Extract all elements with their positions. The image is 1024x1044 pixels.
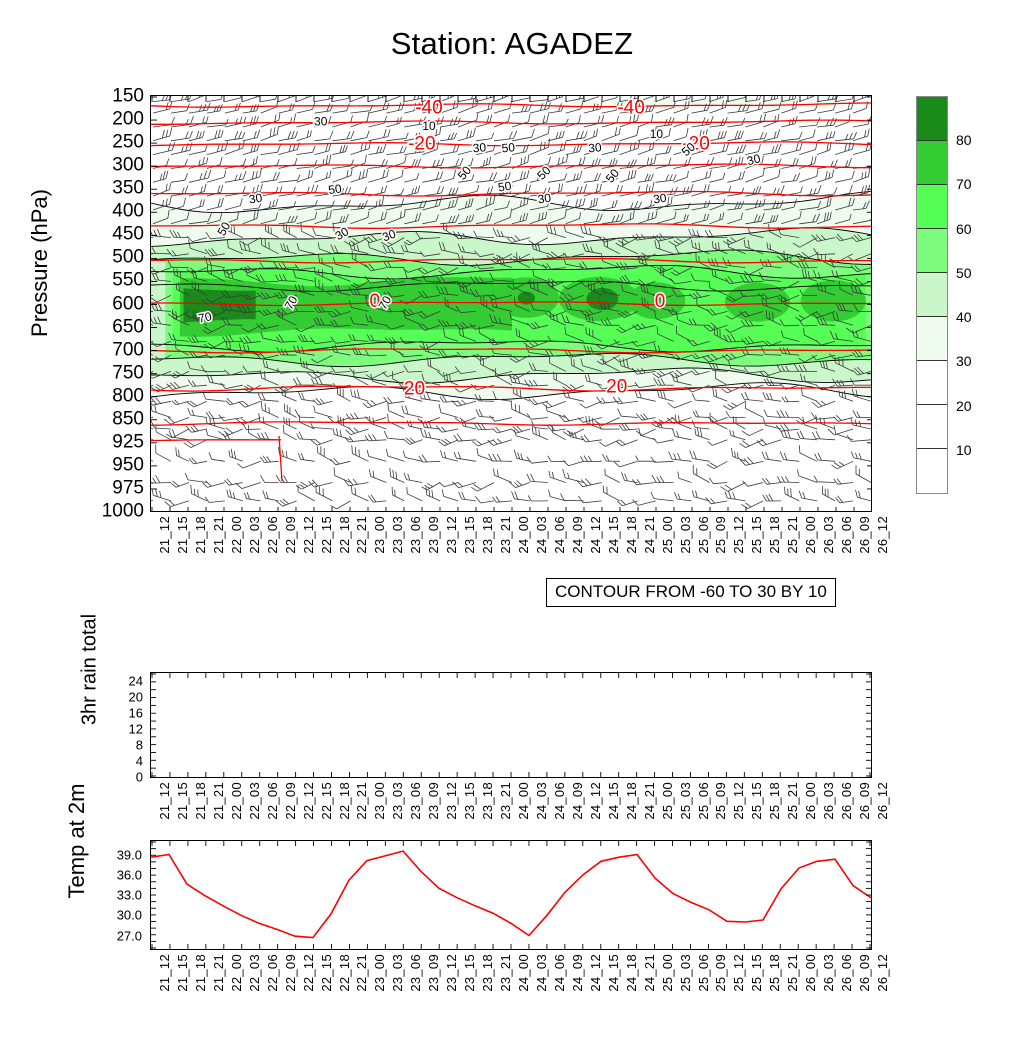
x-tick-label: 22_09 xyxy=(283,954,298,992)
rain-tick-label: 24 xyxy=(97,675,143,688)
x-tick-label: 23_12 xyxy=(444,782,459,820)
x-tick-label: 23_09 xyxy=(426,954,441,992)
x-tick-label: 24_09 xyxy=(570,954,585,992)
x-tick-label: 24_00 xyxy=(516,954,531,992)
svg-text:50: 50 xyxy=(603,166,623,185)
x-tick-label: 23_12 xyxy=(444,516,459,554)
x-tick-label: 23_18 xyxy=(480,782,495,820)
x-tick-label: 24_03 xyxy=(534,516,549,554)
x-tick-label: 22_15 xyxy=(319,954,334,992)
x-tick-label: 21_12 xyxy=(157,954,172,992)
x-tick-label: 26_03 xyxy=(821,954,836,992)
pressure-tick-label: 850 xyxy=(84,409,144,428)
x-tick-label: 24_06 xyxy=(552,954,567,992)
contour-field: -40-40-40-40-20-20-20-200000202020203030… xyxy=(151,96,872,512)
colorbar-tick-label: 60 xyxy=(956,221,972,237)
x-tick-label: 24_00 xyxy=(516,782,531,820)
x-tick-label: 25_09 xyxy=(713,954,728,992)
svg-text:20: 20 xyxy=(606,377,627,398)
pressure-tick-label: 350 xyxy=(84,179,144,198)
colorbar-band xyxy=(917,405,947,449)
svg-text:10: 10 xyxy=(650,127,664,141)
x-tick-label: 26_12 xyxy=(875,516,890,554)
colorbar-band xyxy=(917,229,947,273)
x-tick-label: 22_03 xyxy=(247,954,262,992)
svg-text:30: 30 xyxy=(472,140,487,155)
x-tick-label: 25_03 xyxy=(678,954,693,992)
x-tick-label: 21_21 xyxy=(211,516,226,554)
contour-legend-box: CONTOUR FROM -60 TO 30 BY 10 xyxy=(546,578,836,607)
x-tick-label: 26_09 xyxy=(857,782,872,820)
pressure-tick-label: 550 xyxy=(84,271,144,290)
x-tick-label: 26_12 xyxy=(875,782,890,820)
page-title: Station: AGADEZ xyxy=(0,26,1024,62)
x-tick-label: 26_06 xyxy=(839,782,854,820)
svg-text:30: 30 xyxy=(537,191,552,207)
x-tick-label: 25_06 xyxy=(696,516,711,554)
x-tick-label: 23_18 xyxy=(480,954,495,992)
x-tick-label: 25_03 xyxy=(678,516,693,554)
x-tick-label: 22_21 xyxy=(354,782,369,820)
x-tick-label: 22_12 xyxy=(301,782,316,820)
x-tick-label: 23_21 xyxy=(498,954,513,992)
x-tick-label: 24_21 xyxy=(642,954,657,992)
svg-text:-40: -40 xyxy=(617,98,644,119)
x-tick-label: 23_00 xyxy=(372,782,387,820)
pressure-tick-label: 300 xyxy=(84,156,144,175)
svg-text:-20: -20 xyxy=(408,134,435,155)
x-tick-label: 25_21 xyxy=(785,516,800,554)
x-tick-label: 25_06 xyxy=(696,782,711,820)
x-tick-label: 22_12 xyxy=(301,516,316,554)
temp-tick-label: 36.0 xyxy=(82,868,142,881)
x-tick-label: 23_00 xyxy=(372,954,387,992)
x-tick-label: 25_18 xyxy=(767,782,782,820)
svg-text:30: 30 xyxy=(248,191,263,207)
x-tick-label: 22_06 xyxy=(265,954,280,992)
colorbar-band xyxy=(917,273,947,317)
x-tick-label: 25_21 xyxy=(785,954,800,992)
svg-text:30: 30 xyxy=(745,151,762,168)
x-tick-label: 24_06 xyxy=(552,516,567,554)
x-tick-label: 22_06 xyxy=(265,782,280,820)
colorbar-band xyxy=(917,97,947,141)
x-tick-label: 22_09 xyxy=(283,782,298,820)
pressure-tick-label: 750 xyxy=(84,363,144,382)
x-tick-label: 23_09 xyxy=(426,516,441,554)
x-tick-label: 21_21 xyxy=(211,782,226,820)
colorbar-tick-label: 70 xyxy=(956,176,972,192)
x-tick-label: 22_06 xyxy=(265,516,280,554)
x-tick-label: 22_21 xyxy=(354,516,369,554)
svg-text:0: 0 xyxy=(655,291,666,312)
x-tick-label: 21_15 xyxy=(175,954,190,992)
x-tick-label: 25_15 xyxy=(749,954,764,992)
x-tick-label: 24_12 xyxy=(588,782,603,820)
rain-y-axis-ticks: 04812162024 xyxy=(95,672,143,778)
x-tick-label: 25_15 xyxy=(749,516,764,554)
svg-text:50: 50 xyxy=(327,181,342,197)
colorbar-tick-label: 20 xyxy=(956,398,972,414)
x-tick-label: 25_09 xyxy=(713,516,728,554)
x-tick-label: 26_06 xyxy=(839,954,854,992)
humidity-colorbar xyxy=(916,96,948,494)
pressure-tick-label: 200 xyxy=(84,110,144,129)
pressure-tick-label: 400 xyxy=(84,202,144,221)
x-tick-label: 23_21 xyxy=(498,516,513,554)
colorbar-band xyxy=(917,449,947,493)
temp-x-axis-labels: 21_1221_1521_1821_2122_0022_0322_0622_09… xyxy=(150,954,872,1044)
rain-tick-label: 4 xyxy=(97,755,143,768)
x-tick-label: 22_00 xyxy=(229,954,244,992)
rain-tick-label: 0 xyxy=(97,771,143,784)
x-tick-label: 25_06 xyxy=(696,954,711,992)
x-tick-label: 21_12 xyxy=(157,516,172,554)
x-tick-label: 22_15 xyxy=(319,782,334,820)
x-tick-label: 24_03 xyxy=(534,782,549,820)
x-tick-label: 24_21 xyxy=(642,782,657,820)
rain-series xyxy=(151,673,871,777)
colorbar-tick-label: 50 xyxy=(956,265,972,281)
x-tick-label: 25_12 xyxy=(731,782,746,820)
x-tick-label: 24_18 xyxy=(624,516,639,554)
x-tick-label: 23_15 xyxy=(462,954,477,992)
x-tick-label: 24_00 xyxy=(516,516,531,554)
x-tick-label: 25_12 xyxy=(731,954,746,992)
x-tick-label: 24_15 xyxy=(606,954,621,992)
x-tick-label: 21_15 xyxy=(175,516,190,554)
x-tick-label: 22_18 xyxy=(337,516,352,554)
x-tick-label: 22_12 xyxy=(301,954,316,992)
pressure-tick-label: 950 xyxy=(84,455,144,474)
x-tick-label: 25_00 xyxy=(660,516,675,554)
svg-text:20: 20 xyxy=(404,378,425,399)
x-tick-label: 25_00 xyxy=(660,954,675,992)
x-tick-label: 22_03 xyxy=(247,516,262,554)
pressure-tick-label: 150 xyxy=(84,87,144,106)
x-tick-label: 26_00 xyxy=(803,782,818,820)
x-tick-label: 22_00 xyxy=(229,516,244,554)
x-tick-label: 24_12 xyxy=(588,516,603,554)
x-tick-label: 21_12 xyxy=(157,782,172,820)
pressure-tick-label: 500 xyxy=(84,248,144,267)
pressure-tick-label: 250 xyxy=(84,133,144,152)
colorbar-band xyxy=(917,361,947,405)
colorbar-tick-label: 80 xyxy=(956,132,972,148)
x-tick-label: 25_09 xyxy=(713,782,728,820)
x-tick-label: 24_18 xyxy=(624,954,639,992)
rain-tick-label: 12 xyxy=(97,723,143,736)
svg-text:-40: -40 xyxy=(415,98,442,119)
x-tick-label: 21_18 xyxy=(193,954,208,992)
colorbar-tick-label: 30 xyxy=(956,353,972,369)
x-tick-label: 25_15 xyxy=(749,782,764,820)
svg-text:50: 50 xyxy=(501,140,516,155)
x-tick-label: 23_00 xyxy=(372,516,387,554)
x-tick-label: 26_03 xyxy=(821,782,836,820)
x-tick-label: 22_21 xyxy=(354,954,369,992)
x-tick-label: 23_03 xyxy=(390,954,405,992)
svg-text:30: 30 xyxy=(314,115,328,129)
colorbar-tick-label: 40 xyxy=(956,309,972,325)
x-tick-label: 22_03 xyxy=(247,782,262,820)
colorbar-band xyxy=(917,141,947,185)
x-tick-label: 24_15 xyxy=(606,516,621,554)
x-tick-label: 26_09 xyxy=(857,516,872,554)
x-tick-label: 23_06 xyxy=(408,516,423,554)
x-tick-label: 24_09 xyxy=(570,516,585,554)
sounding-contour-plot: -40-40-40-40-20-20-20-200000202020203030… xyxy=(150,95,872,512)
rain-tick-label: 8 xyxy=(97,739,143,752)
x-tick-label: 22_18 xyxy=(337,954,352,992)
x-tick-label: 23_09 xyxy=(426,782,441,820)
rain-total-plot xyxy=(150,672,872,778)
svg-text:50: 50 xyxy=(497,179,512,195)
x-tick-label: 24_21 xyxy=(642,516,657,554)
temp-series xyxy=(151,841,871,949)
pressure-tick-label: 800 xyxy=(84,386,144,405)
rain-tick-label: 20 xyxy=(97,691,143,704)
x-tick-label: 21_15 xyxy=(175,782,190,820)
x-tick-label: 23_03 xyxy=(390,782,405,820)
x-tick-label: 24_18 xyxy=(624,782,639,820)
pressure-tick-label: 700 xyxy=(84,340,144,359)
x-tick-label: 26_12 xyxy=(875,954,890,992)
temp-tick-label: 39.0 xyxy=(82,848,142,861)
x-tick-label: 25_00 xyxy=(660,782,675,820)
pressure-tick-label: 925 xyxy=(84,432,144,451)
x-tick-label: 21_18 xyxy=(193,516,208,554)
x-tick-label: 24_12 xyxy=(588,954,603,992)
x-tick-label: 23_15 xyxy=(462,782,477,820)
x-tick-label: 22_18 xyxy=(337,782,352,820)
x-tick-label: 22_00 xyxy=(229,782,244,820)
x-tick-label: 26_00 xyxy=(803,954,818,992)
x-tick-label: 23_18 xyxy=(480,516,495,554)
x-tick-label: 26_03 xyxy=(821,516,836,554)
x-tick-label: 23_03 xyxy=(390,516,405,554)
pressure-tick-label: 600 xyxy=(84,294,144,313)
temperature-2m-plot xyxy=(150,840,872,950)
svg-text:30: 30 xyxy=(652,191,667,207)
x-tick-label: 24_06 xyxy=(552,782,567,820)
x-tick-label: 23_06 xyxy=(408,782,423,820)
x-tick-label: 21_18 xyxy=(193,782,208,820)
main-y-axis-label: Pressure (hPa) xyxy=(27,98,53,428)
pressure-tick-label: 975 xyxy=(84,478,144,497)
colorbar-band xyxy=(917,317,947,361)
x-tick-label: 24_09 xyxy=(570,782,585,820)
x-tick-label: 25_18 xyxy=(767,516,782,554)
x-tick-label: 22_09 xyxy=(283,516,298,554)
svg-text:30: 30 xyxy=(588,140,603,155)
x-tick-label: 25_21 xyxy=(785,782,800,820)
temp-tick-label: 27.0 xyxy=(82,929,142,942)
x-tick-label: 24_03 xyxy=(534,954,549,992)
x-tick-label: 26_09 xyxy=(857,954,872,992)
pressure-tick-label: 650 xyxy=(84,317,144,336)
x-tick-label: 22_15 xyxy=(319,516,334,554)
x-tick-label: 23_12 xyxy=(444,954,459,992)
x-tick-label: 25_18 xyxy=(767,954,782,992)
svg-text:10: 10 xyxy=(422,119,436,133)
x-tick-label: 26_06 xyxy=(839,516,854,554)
x-tick-label: 23_06 xyxy=(408,954,423,992)
temp-tick-label: 33.0 xyxy=(82,889,142,902)
rain-tick-label: 16 xyxy=(97,707,143,720)
pressure-tick-label: 450 xyxy=(84,225,144,244)
pressure-tick-label: 1000 xyxy=(84,502,144,521)
x-tick-label: 24_15 xyxy=(606,782,621,820)
x-tick-label: 25_12 xyxy=(731,516,746,554)
x-tick-label: 21_21 xyxy=(211,954,226,992)
main-y-axis-ticks: 1502002503003504004505005506006507007508… xyxy=(80,95,144,512)
x-tick-label: 26_00 xyxy=(803,516,818,554)
x-tick-label: 25_03 xyxy=(678,782,693,820)
colorbar-tick-label: 10 xyxy=(956,442,972,458)
temp-tick-label: 30.0 xyxy=(82,909,142,922)
x-tick-label: 23_21 xyxy=(498,782,513,820)
x-tick-label: 23_15 xyxy=(462,516,477,554)
colorbar-band xyxy=(917,185,947,229)
temp-y-axis-ticks: 27.030.033.036.039.0 xyxy=(80,840,142,950)
